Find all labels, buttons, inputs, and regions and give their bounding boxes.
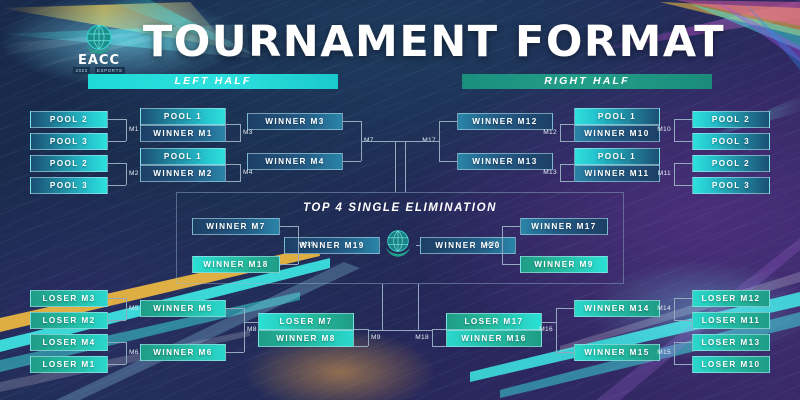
lower-right-match-label-m16: M16 <box>539 326 553 333</box>
connector-line <box>432 329 446 330</box>
lower-right-r2-box-2[interactable]: WINNER M15 <box>574 344 660 361</box>
left-r3-box-1[interactable]: WINNER M3 <box>247 113 343 130</box>
connector-line <box>244 308 245 352</box>
connector-line <box>560 124 561 142</box>
connector-line <box>226 141 240 142</box>
connector-line <box>108 141 126 142</box>
connector-line <box>354 329 368 330</box>
lower-left-r1-box-1[interactable]: LOSER M3 <box>30 290 108 307</box>
connector-line <box>674 298 675 320</box>
connector-line <box>126 163 127 185</box>
right-match-label-m13: M13 <box>543 169 557 176</box>
connector-line <box>382 330 432 331</box>
connector-line <box>556 308 574 309</box>
connector-line <box>502 226 503 264</box>
left-match-label-m2: M2 <box>129 170 139 177</box>
left-r1-box-4[interactable]: POOL 3 <box>30 177 108 194</box>
connector-line <box>108 342 126 343</box>
lower-right-r3-box-2[interactable]: WINNER M16 <box>446 330 542 347</box>
right-r3-box-1[interactable]: WINNER M12 <box>457 113 553 130</box>
right-r2-box-1[interactable]: POOL 1 <box>574 108 660 125</box>
connector-line <box>395 141 396 192</box>
connector-line <box>298 226 299 264</box>
connector-line <box>226 352 244 353</box>
connector-line <box>354 346 368 347</box>
right-r3-box-2[interactable]: WINNER M13 <box>457 153 553 170</box>
connector-line <box>126 119 127 141</box>
right-match-label-m12: M12 <box>543 129 557 136</box>
connector-line <box>556 308 557 352</box>
page-title: TOURNAMENT FORMAT <box>134 18 734 66</box>
left-r1-box-1[interactable]: POOL 2 <box>30 111 108 128</box>
connector-line <box>542 322 556 323</box>
right-r2-box-2[interactable]: WINNER M10 <box>574 125 660 142</box>
connector-line <box>674 119 692 120</box>
connector-line <box>108 119 126 120</box>
lower-right-r1-box-1[interactable]: LOSER M12 <box>692 290 770 307</box>
connector-line <box>382 284 383 330</box>
right-r1-box-3[interactable]: POOL 2 <box>692 155 770 172</box>
lower-right-match-label-m15: M15 <box>657 349 671 356</box>
lower-left-r2-box-1[interactable]: WINNER M5 <box>140 300 226 317</box>
connector-line <box>240 164 241 182</box>
connector-line <box>368 329 369 346</box>
lower-right-r1-box-2[interactable]: LOSER M11 <box>692 312 770 329</box>
eacc-logo-subtext: 2022 ESPORTS <box>63 67 135 74</box>
right-r1-box-2[interactable]: POOL 3 <box>692 133 770 150</box>
lower-left-r3-box-2[interactable]: WINNER M8 <box>258 330 354 347</box>
right-match-label-m11: M11 <box>658 170 671 177</box>
top4-match-label-m19: M19 <box>301 241 315 248</box>
connector-line <box>343 121 361 122</box>
connector-line <box>395 141 439 142</box>
connector-line <box>556 352 574 353</box>
left-match-label-m1: M1 <box>129 126 139 133</box>
left-match-label-m3: M3 <box>243 129 253 136</box>
eacc-logo-year: 2022 <box>73 67 89 74</box>
connector-line <box>418 284 419 330</box>
lower-left-r1-box-2[interactable]: LOSER M2 <box>30 312 108 329</box>
right-r2-box-4[interactable]: WINNER M11 <box>574 165 660 182</box>
connector-line <box>405 141 406 192</box>
lower-left-match-label-m5: M5 <box>129 305 139 312</box>
connector-line <box>560 164 574 165</box>
top4-match-label-m20: M20 <box>485 241 499 248</box>
connector-line <box>674 320 692 321</box>
left-match-label-m4: M4 <box>243 169 253 176</box>
lower-left-match-label-m9: M9 <box>371 334 381 341</box>
top4-left-box-1[interactable]: WINNER M7 <box>192 218 280 235</box>
connector-line <box>674 342 692 343</box>
connector-line <box>674 342 675 364</box>
lower-left-r3-box-1[interactable]: LOSER M7 <box>258 313 354 330</box>
connector-line <box>560 124 574 125</box>
top4-right-box-2[interactable]: WINNER M9 <box>520 256 608 273</box>
right-r1-box-1[interactable]: POOL 2 <box>692 111 770 128</box>
right-half-header: RIGHT HALF <box>462 74 712 89</box>
connector-line <box>560 141 574 142</box>
connector-line <box>674 364 692 365</box>
lower-right-r1-box-4[interactable]: LOSER M10 <box>692 356 770 373</box>
left-r2-box-1[interactable]: POOL 1 <box>140 108 226 125</box>
connector-line <box>416 245 420 246</box>
eacc-ball-logo-icon <box>82 22 116 56</box>
left-r2-box-4[interactable]: WINNER M2 <box>140 165 226 182</box>
lower-right-match-label-m14: M14 <box>657 305 671 312</box>
connector-line <box>560 164 561 182</box>
connector-line <box>502 264 520 265</box>
lower-left-r1-box-4[interactable]: LOSER M1 <box>30 356 108 373</box>
connector-line <box>126 298 127 320</box>
connector-line <box>674 298 692 299</box>
connector-line <box>560 181 574 182</box>
connector-line <box>432 346 446 347</box>
connector-line <box>108 163 126 164</box>
connector-line <box>244 322 258 323</box>
left-r1-box-2[interactable]: POOL 3 <box>30 133 108 150</box>
connector-line <box>108 298 126 299</box>
connector-line <box>674 141 692 142</box>
connector-line <box>226 308 244 309</box>
top4-title: TOP 4 SINGLE ELIMINATION <box>176 202 624 214</box>
lower-right-match-label-m18: M18 <box>415 334 429 341</box>
right-match-label-m10: M10 <box>657 126 671 133</box>
left-half-header: LEFT HALF <box>88 74 338 89</box>
connector-line <box>439 121 457 122</box>
lower-left-r1-box-3[interactable]: LOSER M4 <box>30 334 108 351</box>
left-r3-box-2[interactable]: WINNER M4 <box>247 153 343 170</box>
connector-line <box>674 163 675 185</box>
connector-line <box>280 226 298 227</box>
eacc-logo: EACC 2022 ESPORTS <box>63 22 135 78</box>
connector-line <box>674 185 692 186</box>
lower-left-r2-box-2[interactable]: WINNER M6 <box>140 344 226 361</box>
connector-line <box>226 124 240 125</box>
left-r2-box-2[interactable]: WINNER M1 <box>140 125 226 142</box>
top4-left-box-2[interactable]: WINNER M18 <box>192 256 280 273</box>
lower-left-match-label-m8: M8 <box>247 326 257 333</box>
connector-line <box>226 181 240 182</box>
connector-line <box>502 226 520 227</box>
left-r2-box-3[interactable]: POOL 1 <box>140 148 226 165</box>
connector-line <box>674 119 675 141</box>
lower-right-r2-box-1[interactable]: WINNER M14 <box>574 300 660 317</box>
connector-line <box>126 342 127 364</box>
lower-right-r1-box-3[interactable]: LOSER M13 <box>692 334 770 351</box>
right-r2-box-3[interactable]: POOL 1 <box>574 148 660 165</box>
connector-line <box>343 161 361 162</box>
tournament-bracket-infographic: EACC 2022 ESPORTS TOURNAMENT FORMAT LEFT… <box>0 0 800 400</box>
connector-line <box>108 364 126 365</box>
connector-line <box>674 163 692 164</box>
connector-line <box>240 124 241 142</box>
right-r1-box-4[interactable]: POOL 3 <box>692 177 770 194</box>
lower-left-match-label-m6: M6 <box>129 349 139 356</box>
connector-line <box>108 185 126 186</box>
connector-line <box>432 329 433 346</box>
eacc-logo-esports: ESPORTS <box>95 67 125 74</box>
connector-line <box>226 164 240 165</box>
connector-line <box>108 320 126 321</box>
connector-line <box>439 121 440 161</box>
connector-line <box>280 264 298 265</box>
connector-line <box>439 161 457 162</box>
eacc-ball-emblem-icon <box>380 227 416 260</box>
top4-right-box-1[interactable]: WINNER M17 <box>520 218 608 235</box>
eacc-logo-text: EACC <box>63 53 135 68</box>
lower-right-r3-box-1[interactable]: LOSER M17 <box>446 313 542 330</box>
left-r1-box-3[interactable]: POOL 2 <box>30 155 108 172</box>
